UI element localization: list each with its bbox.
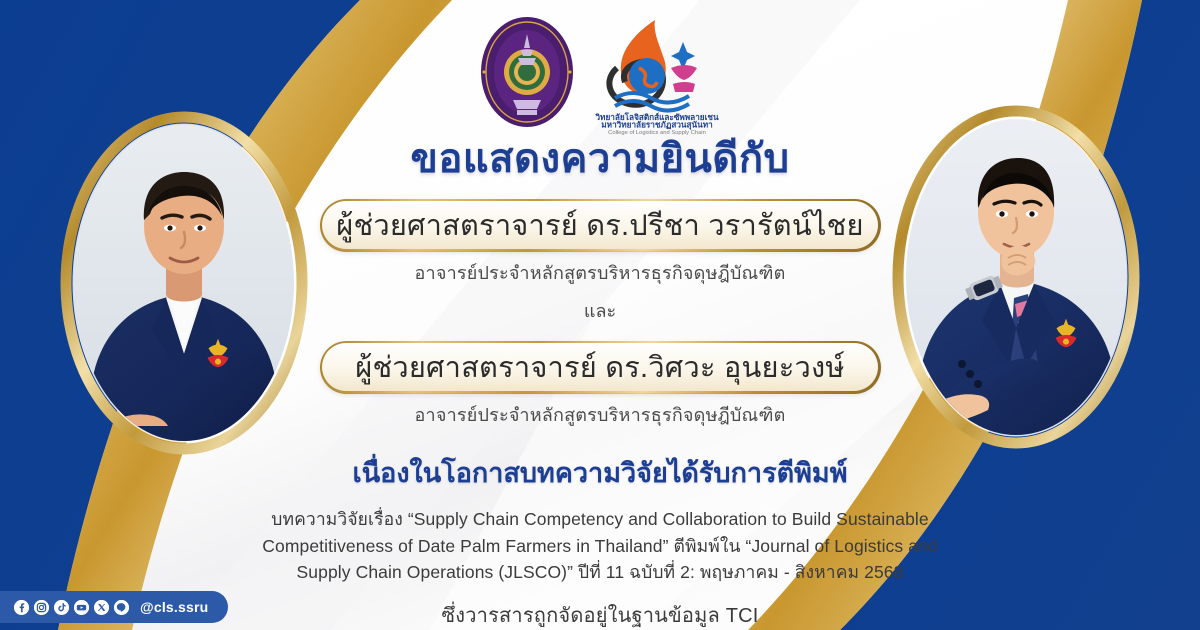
publication-line-1: บทความวิจัยเรื่อง “Supply Chain Competen… xyxy=(220,506,980,533)
honoree-role-1: อาจารย์ประจำหลักสูตรบริหารธุรกิจดุษฎีบัณ… xyxy=(240,258,960,287)
honoree-name-1: ผู้ช่วยศาสตราจารย์ ดร.ปรีชา วรารัตน์ไชย xyxy=(336,202,863,248)
publication-line-2: Competitiveness of Date Palm Farmers in … xyxy=(220,533,980,560)
line-icon[interactable] xyxy=(114,600,129,615)
publication-line-3: Supply Chain Operations (JLSCO)” ปีที่ 1… xyxy=(220,559,980,586)
social-handle: @cls.ssru xyxy=(140,599,208,615)
facebook-icon[interactable] xyxy=(14,600,29,615)
page-title: ขอแสดงความยินดีกับ xyxy=(240,136,960,183)
college-logistics-logo-icon: วิทยาลัยโลจิสติกส์และซัพพลายเชน มหาวิทยา… xyxy=(591,14,723,136)
content-block: ขอแสดงความยินดีกับ ผู้ช่วยศาสตราจารย์ ดร… xyxy=(240,136,960,630)
svg-text:มหาวิทยาลัยราชภัฏสวนสุนันทา: มหาวิทยาลัยราชภัฏสวนสุนันทา xyxy=(601,121,712,131)
youtube-icon[interactable] xyxy=(74,600,89,615)
logo-row: วิทยาลัยโลจิสติกส์และซัพพลายเชน มหาวิทยา… xyxy=(0,14,1200,136)
honoree-role-2: อาจารย์ประจำหลักสูตรบริหารธุรกิจดุษฎีบัณ… xyxy=(240,400,960,429)
publication-details: บทความวิจัยเรื่อง “Supply Chain Competen… xyxy=(220,506,980,586)
social-media-pill: @cls.ssru xyxy=(0,591,228,623)
honoree-name-plate-2: ผู้ช่วยศาสตราจารย์ ดร.วิศวะ อุนยะวงษ์ xyxy=(320,341,880,393)
honoree-name-plate-1: ผู้ช่วยศาสตราจารย์ ดร.ปรีชา วรารัตน์ไชย xyxy=(320,199,880,251)
university-seal-icon xyxy=(477,14,577,130)
honoree-name-2: ผู้ช่วยศาสตราจารย์ ดร.วิศวะ อุนยะวงษ์ xyxy=(355,344,844,390)
tiktok-icon[interactable] xyxy=(54,600,69,615)
and-connector: และ xyxy=(240,296,960,325)
database-note: ซึ่งวารสารถูกจัดอยู่ในฐานข้อมูล TCI xyxy=(240,599,960,630)
occasion-subtitle: เนื่องในโอกาสบทความวิจัยได้รับการตีพิมพ์ xyxy=(240,451,960,494)
x-twitter-icon[interactable] xyxy=(94,600,109,615)
congratulations-banner: วิทยาลัยโลจิสติกส์และซัพพลายเชน มหาวิทยา… xyxy=(0,0,1200,630)
instagram-icon[interactable] xyxy=(34,600,49,615)
